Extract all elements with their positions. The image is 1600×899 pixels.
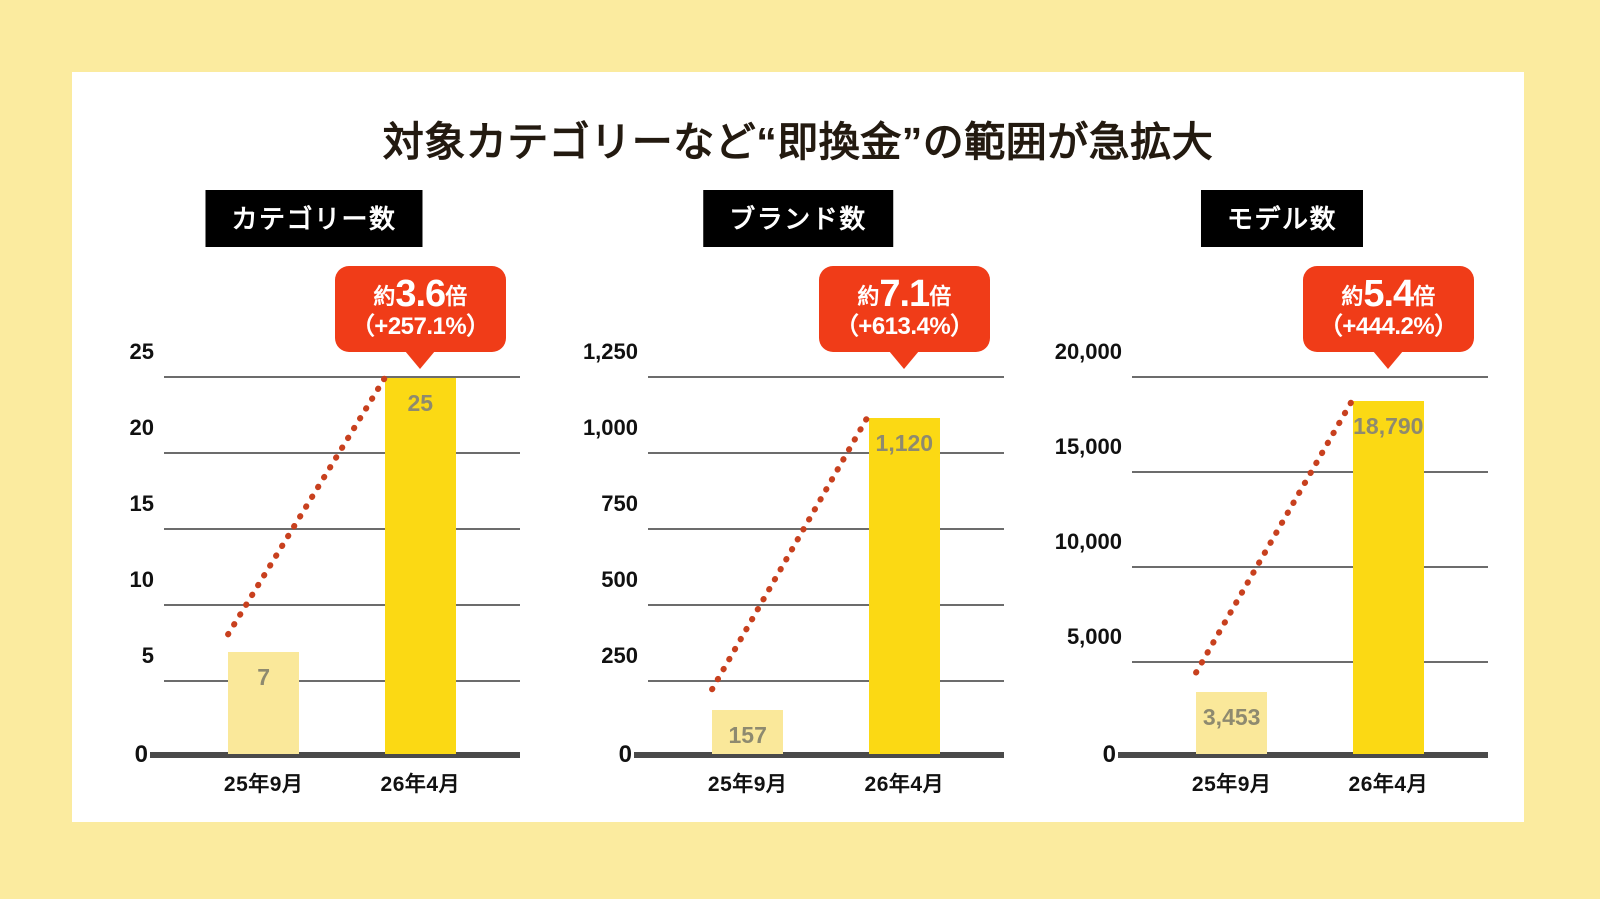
x-axis-category-label: 26年4月 [1349, 768, 1429, 798]
x-axis-category-label: 25年9月 [708, 768, 788, 798]
bar[interactable]: 725年9月 [228, 652, 299, 754]
y-axis-tick-label-zero: 0 [619, 741, 632, 769]
bar-value-label: 18,790 [1353, 413, 1424, 440]
page-title: 対象カテゴリーなど“即換金”の範囲が急拡大 [72, 108, 1524, 168]
chart-title-chip: ブランド数 [703, 190, 893, 247]
growth-percent-label: （+613.4%） [835, 313, 974, 341]
plot-area: 5,00010,00015,00020,00003,45325年9月18,790… [1040, 360, 1524, 810]
multiplier-prefix: 約 [373, 284, 395, 309]
x-axis-category-label: 26年4月 [865, 768, 945, 798]
multiplier-value: 7.1 [879, 273, 929, 315]
y-axis-tick-label: 15 [130, 491, 154, 517]
x-axis-category-label: 25年9月 [1192, 768, 1272, 798]
y-axis-tick-label: 20,000 [1055, 339, 1122, 365]
y-axis-tick-label: 20 [130, 415, 154, 441]
chart-panel: カテゴリー数5101520250725年9月2526年4月約3.6倍（+257.… [72, 190, 556, 810]
chart-panels: カテゴリー数5101520250725年9月2526年4月約3.6倍（+257.… [72, 190, 1524, 810]
bar[interactable]: 2526年4月 [385, 378, 456, 754]
chart-title-chip: モデル数 [1201, 190, 1363, 247]
bar-value-label: 157 [712, 722, 783, 749]
bar[interactable]: 15725年9月 [712, 710, 783, 754]
growth-multiplier-badge: 約7.1倍（+613.4%） [819, 266, 990, 352]
growth-multiplier-badge: 約3.6倍（+257.1%） [335, 266, 506, 352]
multiplier-value: 5.4 [1363, 273, 1413, 315]
y-axis-tick-label: 750 [601, 491, 638, 517]
multiplier-suffix: 倍 [1413, 284, 1435, 309]
bar-value-label: 25 [385, 390, 456, 417]
y-axis-tick-label: 250 [601, 643, 638, 669]
y-axis-tick-label-zero: 0 [135, 741, 148, 769]
multiplier-prefix: 約 [1341, 284, 1363, 309]
y-axis-tick-label-zero: 0 [1103, 741, 1116, 769]
y-axis-tick-label: 1,000 [583, 415, 638, 441]
chart-panel: モデル数5,00010,00015,00020,00003,45325年9月18… [1040, 190, 1524, 810]
bar[interactable]: 3,45325年9月 [1196, 692, 1267, 754]
bar[interactable]: 18,79026年4月 [1353, 401, 1424, 754]
axis-area: 5101520250725年9月2526年4月 [164, 378, 520, 758]
multiplier-suffix: 倍 [445, 284, 467, 309]
y-axis-tick-label: 1,250 [583, 339, 638, 365]
bars-group: 725年9月2526年4月 [164, 378, 520, 758]
x-axis-category-label: 25年9月 [224, 768, 304, 798]
x-axis-category-label: 26年4月 [381, 768, 461, 798]
chart-title-chip: カテゴリー数 [205, 190, 422, 247]
bars-group: 15725年9月1,12026年4月 [648, 378, 1004, 758]
bar-value-label: 7 [228, 664, 299, 691]
growth-percent-label: （+257.1%） [351, 313, 490, 341]
growth-percent-label: （+444.2%） [1319, 313, 1458, 341]
bars-group: 3,45325年9月18,79026年4月 [1132, 378, 1488, 758]
y-axis-tick-label: 25 [130, 339, 154, 365]
multiplier-suffix: 倍 [929, 284, 951, 309]
plot-area: 5101520250725年9月2526年4月 [72, 360, 556, 810]
multiplier-value: 3.6 [395, 273, 445, 315]
y-axis-tick-label: 5,000 [1067, 624, 1122, 650]
bar-value-label: 1,120 [869, 430, 940, 457]
axis-area: 5,00010,00015,00020,00003,45325年9月18,790… [1132, 378, 1488, 758]
chart-panel: ブランド数2505007501,0001,250015725年9月1,12026… [556, 190, 1040, 810]
plot-area: 2505007501,0001,250015725年9月1,12026年4月 [556, 360, 1040, 810]
y-axis-tick-label: 500 [601, 567, 638, 593]
y-axis-tick-label: 5 [142, 643, 154, 669]
y-axis-tick-label: 15,000 [1055, 434, 1122, 460]
chart-card: 対象カテゴリーなど“即換金”の範囲が急拡大 カテゴリー数510152025072… [72, 72, 1524, 822]
y-axis-tick-label: 10 [130, 567, 154, 593]
bar-value-label: 3,453 [1196, 704, 1267, 731]
growth-multiplier-badge: 約5.4倍（+444.2%） [1303, 266, 1474, 352]
bar[interactable]: 1,12026年4月 [869, 418, 940, 754]
axis-area: 2505007501,0001,250015725年9月1,12026年4月 [648, 378, 1004, 758]
y-axis-tick-label: 10,000 [1055, 529, 1122, 555]
multiplier-prefix: 約 [857, 284, 879, 309]
